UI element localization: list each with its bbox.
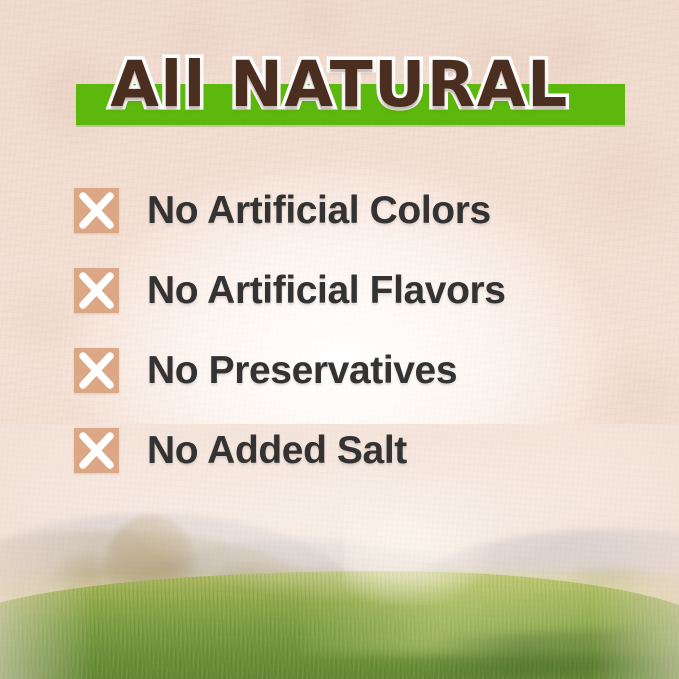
list-item: No Preservatives [74,330,639,410]
list-item: No Added Salt [74,410,639,490]
benefit-label: No Artificial Flavors [147,268,506,313]
benefits-list: No Artificial Colors No Artificial Flavo… [74,170,639,490]
all-natural-poster: All NATURAL No Artificial Colors No Arti… [0,0,679,679]
headline-banner: All NATURAL [0,46,679,134]
x-mark-icon [74,428,119,473]
x-mark-icon [74,188,119,233]
list-item: No Artificial Colors [74,170,639,250]
benefit-label: No Added Salt [147,428,407,473]
page-title: All NATURAL [0,46,679,124]
x-mark-icon [74,268,119,313]
list-item: No Artificial Flavors [74,250,639,330]
x-mark-icon [74,348,119,393]
benefit-label: No Preservatives [147,348,457,393]
benefit-label: No Artificial Colors [147,188,491,233]
